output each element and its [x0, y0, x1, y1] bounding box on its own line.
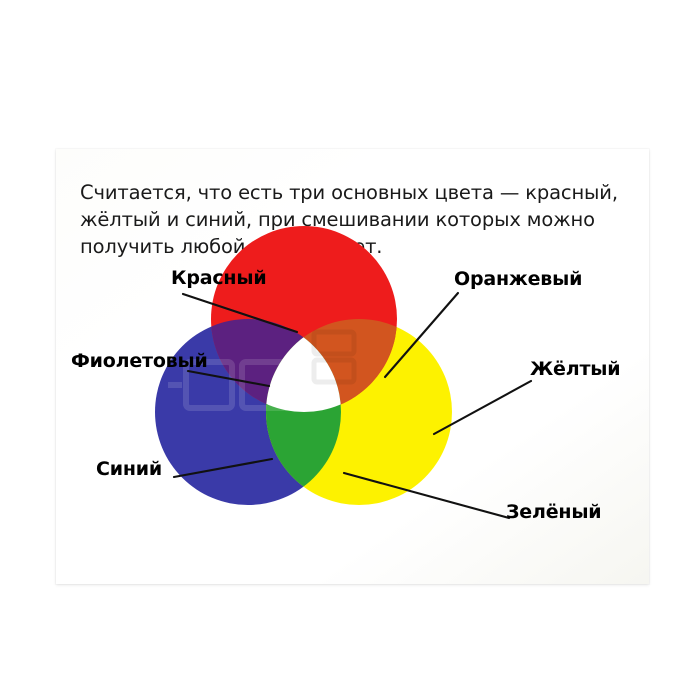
- label-orange: Оранжевый: [454, 268, 582, 290]
- scanned-page-card: Считается, что есть три основных цвета —…: [56, 149, 649, 584]
- label-blue: Синий: [96, 458, 162, 480]
- screenshot-canvas: Считается, что есть три основных цвета —…: [0, 0, 700, 700]
- label-red: Красный: [171, 267, 266, 289]
- color-mixing-venn-diagram: Красный Оранжевый Фиолетовый Жёлтый Сини…: [56, 149, 649, 584]
- label-yellow: Жёлтый: [530, 358, 620, 380]
- label-green: Зелёный: [506, 501, 601, 523]
- label-violet: Фиолетовый: [71, 350, 208, 372]
